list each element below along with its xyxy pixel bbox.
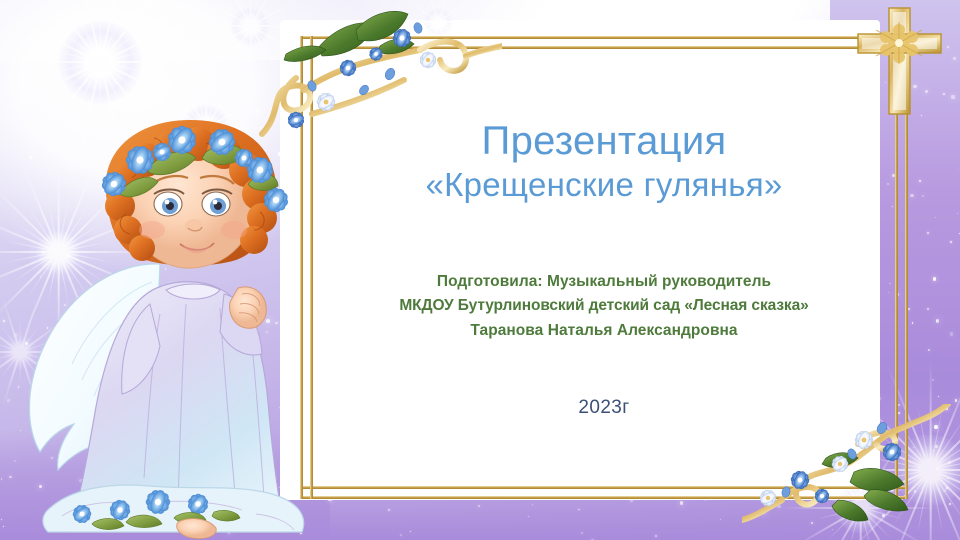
sparkle-dot [835, 449, 836, 450]
sparkle-dot [432, 482, 436, 486]
slide-title: Презентация «Крещенские гулянья» [330, 118, 878, 204]
sparkle-dot [692, 453, 694, 455]
sparkle-dot [495, 458, 498, 461]
sparkle-dot [910, 194, 914, 198]
sparkle-dot [43, 102, 44, 103]
sparkle-dot [943, 489, 946, 492]
sparkle-dot [841, 106, 843, 108]
sparkle-dot [891, 489, 894, 492]
slide-subtitle: Подготовила: Музыкальный руководитель МК… [330, 270, 878, 343]
sparkle-dot [52, 113, 55, 116]
subtitle-line-1: Подготовила: Музыкальный руководитель [330, 270, 878, 294]
sparkle-dot [950, 332, 953, 335]
sparkle-dot [870, 454, 871, 455]
sparkle-dot [792, 478, 794, 480]
sparkle-dot [936, 320, 937, 321]
sparkle-dot [328, 498, 331, 501]
sparkle-dot [146, 108, 147, 109]
sparkle-dot [912, 322, 914, 324]
title-line-2: «Крещенские гулянья» [330, 166, 878, 204]
sparkle-dot [504, 469, 506, 471]
sparkle-dot [878, 397, 881, 400]
angel-illustration [10, 118, 320, 540]
sparkle-dot [953, 57, 956, 60]
sparkle-dot [927, 308, 929, 310]
sparkle-dot [844, 508, 845, 509]
sparkle-dot [839, 430, 842, 433]
sparkle-dot [105, 74, 106, 75]
sparkle-dot [948, 461, 951, 464]
sparkle-dot [810, 446, 814, 450]
sparkle-dot [893, 435, 894, 436]
sparkle-dot [508, 445, 512, 449]
sparkle-dot [850, 513, 853, 516]
sparkle-dot [933, 277, 936, 280]
sparkle-dot [878, 361, 879, 362]
sparkle-dot [104, 68, 107, 71]
sparkle-dot [875, 492, 878, 495]
sparkle-dot [946, 487, 948, 489]
sparkle-dot [705, 500, 706, 501]
title-line-1: Презентация [482, 119, 727, 163]
sparkle-dot [400, 534, 402, 536]
sparkle-dot [919, 180, 921, 182]
sparkle-dot [528, 516, 529, 517]
sparkle-dot [853, 448, 855, 450]
sparkle-dot [951, 95, 954, 98]
subtitle-line-3: Таранова Наталья Александровна [330, 319, 878, 343]
sparkle-dot [898, 412, 900, 414]
slide-year: 2023г [330, 397, 878, 419]
sparkle-dot [945, 407, 948, 410]
sparkle-dot [478, 505, 480, 507]
sparkle-dot [947, 478, 949, 480]
subtitle-line-2: МКДОУ Бутурлиновский детский сад «Лесная… [330, 294, 878, 318]
sparkle-dot [748, 491, 750, 493]
angel-hands [230, 287, 267, 328]
sparkle-dot [255, 109, 259, 113]
sparkle-dot [102, 42, 103, 43]
sparkle-dot [775, 439, 776, 440]
sparkle-dot [882, 514, 885, 517]
sparkle-dot [859, 454, 862, 457]
sparkle-dot [762, 510, 765, 513]
sparkle-dot [180, 90, 183, 93]
sparkle-dot [949, 503, 951, 505]
sparkle-dot [630, 499, 633, 502]
sparkle-dot [935, 445, 938, 448]
sparkle-dot [22, 22, 24, 24]
sparkle-dot [410, 531, 411, 532]
slide-text-block: Презентация «Крещенские гулянья» Подгото… [330, 118, 878, 419]
sparkle-dot [26, 44, 29, 47]
sparkle-dot [932, 379, 934, 381]
sparkle-dot [905, 125, 906, 126]
gown-hem [43, 485, 304, 539]
sparkle-dot [578, 509, 580, 511]
golden-cross-icon [852, 4, 948, 116]
sparkle-dot [913, 447, 914, 448]
sparkle-dot [936, 467, 939, 470]
sparkle-dot [927, 232, 929, 234]
presentation-slide: Презентация «Крещенские гулянья» Подгото… [0, 0, 960, 540]
sparkle-dot [840, 434, 843, 437]
sparkle-dot [870, 428, 872, 430]
sparkle-dot [388, 509, 390, 511]
sparkle-dot [955, 399, 958, 402]
